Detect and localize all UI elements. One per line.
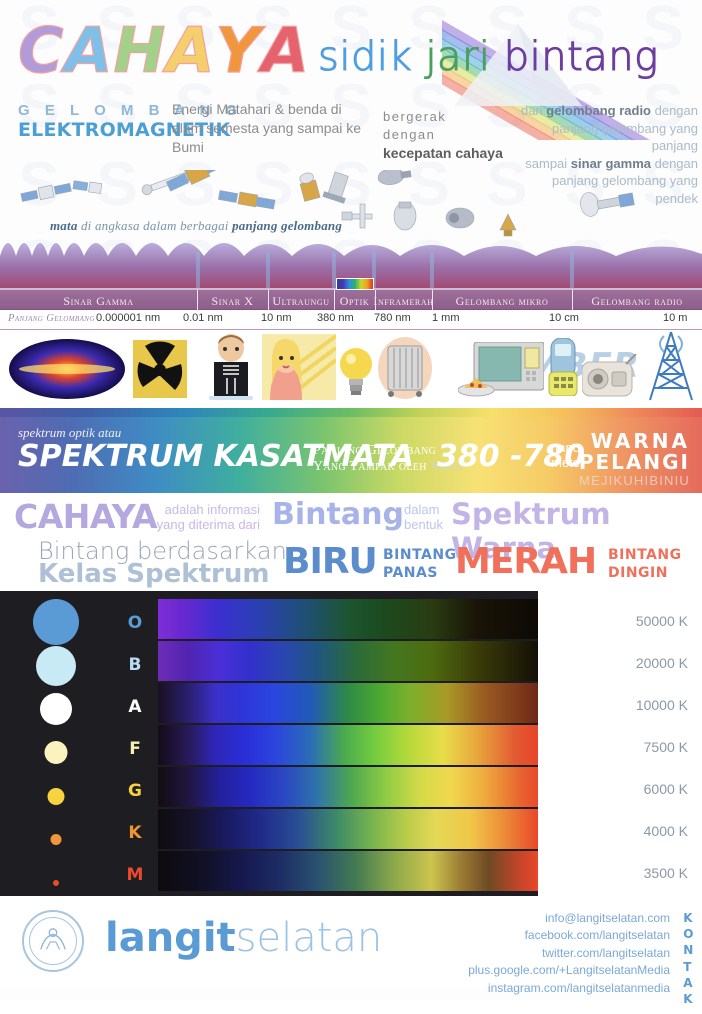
wavelength-scale-caption: Panjang Gelombang — [8, 313, 95, 324]
scale-tick-5: 1 mm — [432, 312, 460, 324]
spectral-class-label-G[interactable]: G — [112, 781, 158, 801]
subtitle-word-1: jari — [425, 34, 490, 80]
band-divider-1 — [197, 290, 198, 312]
page-title: CAHAYA — [18, 20, 310, 82]
contact-list: info@langitselatan.comfacebook.com/langi… — [468, 910, 670, 997]
sunlight-uv-woman-icon — [262, 334, 336, 400]
star-size-dot-G — [48, 788, 65, 805]
kontak-letter-4: A — [683, 975, 694, 991]
em-band-gelombang-radio[interactable]: Gelombang radio — [572, 290, 702, 312]
intro-text-row: G E L O M B A N G ELEKTROMAGNETIK Energi… — [0, 100, 702, 170]
mid-bintang-dingin-l2: DINGIN — [608, 565, 682, 583]
contact-link-2[interactable]: twitter.com/langitselatan — [468, 945, 670, 962]
seal-emblem-icon — [24, 912, 82, 970]
star-size-dot-K — [51, 834, 62, 845]
em-band-gelombang-mikro[interactable]: Gelombang mikro — [432, 290, 572, 312]
temperature-label-G: 6000 K — [538, 781, 688, 797]
spectrum-row-G[interactable] — [158, 767, 538, 807]
mid-merah: MERAH — [455, 541, 596, 582]
star-size-dot-F — [45, 741, 68, 764]
spectrum-thin-bar — [0, 408, 702, 417]
kontak-vertical-label: KONTAK — [683, 910, 694, 1007]
mid-cahaya: CAHAYA — [14, 497, 157, 536]
mid-bintang-panas-l1: BINTANG — [383, 547, 457, 565]
temperature-column: 50000 K20000 K10000 K7500 K6000 K4000 K3… — [538, 591, 702, 896]
dengan-label-1: dengan — [651, 103, 698, 118]
kontak-letter-0: K — [683, 910, 694, 926]
mobile-phone-icon — [545, 338, 581, 396]
spectra-rows — [158, 599, 538, 893]
temperature-label-A: 10000 K — [538, 697, 688, 713]
em-band-optik[interactable]: Optik — [334, 290, 375, 312]
dari-label: dari — [521, 103, 546, 118]
logo-langit: langit — [105, 915, 236, 961]
pelangi-label: PELANGI — [579, 452, 690, 473]
mid-bintang-dingin: BINTANG DINGIN — [608, 547, 682, 582]
intro-col-energy: Energi Matahari & benda di alam semesta … — [172, 100, 372, 157]
scale-tick-0: 0.000001 nm — [96, 312, 160, 324]
em-band-inframerah[interactable]: Inframerah — [375, 290, 432, 312]
subtitle-word-0: sidik — [318, 34, 412, 80]
contact-link-0[interactable]: info@langitselatan.com — [468, 910, 670, 927]
title-letter-4: Y — [215, 20, 261, 82]
sinar-gamma-label: sinar gamma — [571, 156, 651, 171]
star-size-dot-A — [40, 693, 72, 725]
warna-label: WARNA — [579, 431, 690, 452]
scale-tick-7: 10 m — [663, 312, 687, 324]
kecepatan-cahaya-label: kecepatan cahaya — [383, 145, 503, 161]
temperature-label-K: 4000 K — [538, 823, 688, 839]
spectral-class-label-O[interactable]: O — [112, 613, 158, 633]
star-size-dot-B — [36, 646, 76, 686]
temperature-label-M: 3500 K — [538, 865, 688, 881]
visible-spectrum-section: spektrum optik atau SPEKTRUM KASATMATA P… — [0, 408, 702, 493]
temperature-label-F: 7500 K — [538, 739, 688, 755]
header: CAHAYA sidik jari bintang — [0, 0, 702, 100]
band-divider-2 — [268, 290, 269, 312]
contact-link-4[interactable]: instagram.com/langitselatanmedia — [468, 980, 670, 997]
title-letter-2: H — [114, 20, 167, 82]
band-divider-5 — [432, 290, 433, 312]
title-letter-1: A — [65, 20, 114, 82]
star-size-dot-O — [33, 599, 79, 645]
infographic-page: SSSSSSSSSSSSSSSSSSSSSSSSSSSSSSSSSSSSSSSS… — [0, 0, 702, 1000]
scale-tick-4: 780 nm — [374, 312, 411, 324]
lightbulb-icon — [338, 346, 374, 398]
spectrum-row-K[interactable] — [158, 809, 538, 849]
logo-selatan: selatan — [236, 915, 383, 961]
radiation-hazard-icon — [133, 340, 187, 398]
mid-bintang-panas-l2: PANAS — [383, 565, 457, 583]
mid-biru: BIRU — [283, 541, 377, 582]
footer: langitselatan info@langitselatan.comface… — [0, 896, 702, 988]
mid-kelas-spektrum: Kelas Spektrum — [38, 559, 269, 589]
mejikuhibiniu-label: MEJIKUHIBINIU — [579, 473, 690, 488]
heater-infrared-icon — [378, 336, 432, 400]
mid-bintang-panas: BINTANG PANAS — [383, 547, 457, 582]
mid-dalam-l2: bentuk — [404, 518, 443, 533]
radio-tower-icon — [642, 330, 700, 402]
mid-bintang: Bintang — [272, 497, 404, 532]
mid-bintang-dingin-l1: BINTANG — [608, 547, 682, 565]
intro-col-speed: bergerak dengan kecepatan cahaya — [383, 108, 503, 164]
spectrum-row-A[interactable] — [158, 683, 538, 723]
spectral-class-label-B[interactable]: B — [112, 655, 158, 675]
spectrum-row-B[interactable] — [158, 641, 538, 681]
em-spectrum-band-bar: Sinar GammaSinar XUltraunguOptikInframer… — [0, 288, 702, 310]
satellite-illustrations — [0, 170, 702, 250]
scale-tick-2: 10 nm — [261, 312, 292, 324]
optic-spectrum-chip — [336, 278, 374, 290]
scale-tick-1: 0.01 nm — [183, 312, 223, 324]
mid-adalah-l1: adalah informasi — [155, 503, 260, 518]
contact-link-3[interactable]: plus.google.com/+LangitselatanMedia — [468, 962, 670, 979]
band-divider-4 — [375, 290, 376, 312]
title-letter-5: A — [261, 20, 310, 82]
contact-link-1[interactable]: facebook.com/langitselatan — [468, 927, 670, 944]
band-divider-3 — [334, 290, 335, 312]
em-band-sinar-gamma[interactable]: Sinar Gamma — [0, 290, 197, 312]
title-letter-3: A — [166, 20, 215, 82]
scale-tick-6: 10 cm — [549, 312, 579, 324]
sampai-label: sampai — [525, 156, 571, 171]
spectral-class-label-A[interactable]: A — [112, 697, 158, 717]
microwave-oven-icon — [458, 342, 544, 398]
galaxy-gamma-map-icon — [8, 338, 126, 400]
warna-pelangi-block: WARNA PELANGI MEJIKUHIBINIU — [579, 431, 690, 488]
sources-row: SUMBER — [0, 330, 702, 408]
scale-tick-3: 380 nm — [317, 312, 354, 324]
langitselatan-seal-logo — [22, 910, 84, 972]
star-size-dot-M — [53, 880, 59, 886]
mid-text-block: CAHAYA adalah informasi yang diterima da… — [0, 493, 702, 591]
em-band-sinar-x[interactable]: Sinar X — [197, 290, 268, 312]
temperature-label-B: 20000 K — [538, 655, 688, 671]
page-subtitle: sidik jari bintang — [318, 34, 659, 80]
star-size-column — [0, 591, 112, 896]
kontak-letter-2: N — [683, 942, 694, 958]
spectral-class-column: OBAFGKM — [112, 591, 158, 896]
dengan-label-2: dengan — [651, 156, 698, 171]
spectral-class-label-M[interactable]: M — [112, 865, 158, 885]
star-spectral-class-chart: OBAFGKM 50000 K20000 K10000 K7500 K6000 … — [0, 591, 702, 896]
bergerak-dengan-label: bergerak dengan — [383, 108, 503, 144]
kontak-letter-5: K — [683, 991, 694, 1007]
satellites-band: mata di angkasa dalam berbagai panjang g… — [0, 170, 702, 288]
em-band-ultraungu[interactable]: Ultraungu — [268, 290, 334, 312]
spectrum-row-F[interactable] — [158, 725, 538, 765]
mid-dalam-l1: dalam — [404, 503, 443, 518]
panjang-panjang-label: panjang gelombang yang panjang — [552, 121, 698, 154]
temperature-label-O: 50000 K — [538, 613, 688, 629]
spectrum-row-O[interactable] — [158, 599, 538, 639]
spectral-class-label-F[interactable]: F — [112, 739, 158, 759]
subtitle-word-2: bintang — [504, 34, 659, 80]
wavelength-scale: Panjang Gelombang 0.000001 nm0.01 nm10 n… — [0, 310, 702, 330]
langitselatan-wordmark: langitselatan — [105, 918, 382, 958]
kontak-letter-1: O — [683, 926, 694, 942]
kontak-letter-3: T — [683, 959, 694, 975]
xray-patient-icon — [203, 334, 259, 402]
band-divider-6 — [572, 290, 573, 312]
spectral-class-label-K[interactable]: K — [112, 823, 158, 843]
radio-receiver-icon — [582, 354, 638, 398]
title-letter-0: C — [18, 20, 65, 82]
spectrum-row-M[interactable] — [158, 851, 538, 891]
mid-adalah-l2: yang diterima dari — [155, 518, 260, 533]
gelombang-radio-label: gelombang radio — [546, 103, 651, 118]
mid-adalah-informasi: adalah informasi yang diterima dari — [155, 503, 260, 532]
mid-dalam-bentuk: dalam bentuk — [404, 503, 443, 532]
pg-line2a: Yang Tampak oleh — [313, 459, 431, 474]
spectrum-main-bar: spektrum optik atau SPEKTRUM KASATMATA P… — [0, 417, 702, 493]
